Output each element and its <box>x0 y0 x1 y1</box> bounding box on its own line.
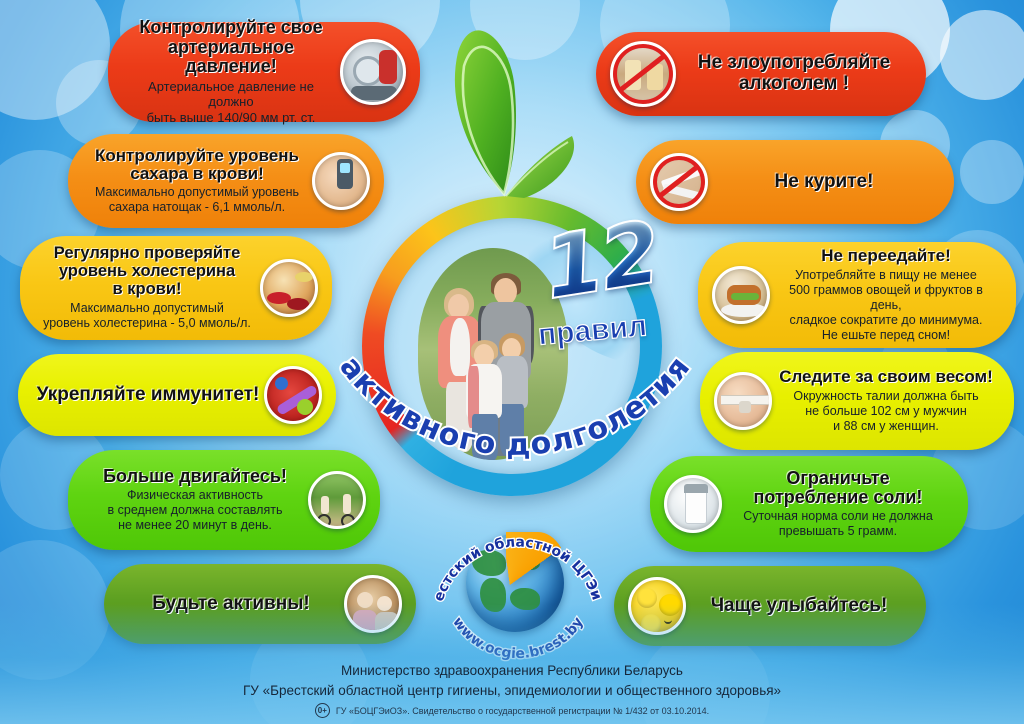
svg-text:www.ocgie.brest.by: www.ocgie.brest.by <box>449 614 586 662</box>
card-title: Не переедайте! <box>774 247 998 265</box>
age-rating-badge: 0+ <box>315 703 330 718</box>
card-title: Контролируйте своеартериальное давление! <box>126 18 336 76</box>
footer: Министерство здравоохранения Республики … <box>0 661 1024 719</box>
card-title: Контролируйте уровеньсахара в крови! <box>86 147 308 184</box>
cholesterol-food-icon <box>260 259 318 317</box>
blood-cells-icon <box>264 366 322 424</box>
card-body: Артериальное давление не должнобыть выше… <box>126 79 336 126</box>
svg-text:активного долголетия: активного долголетия <box>332 350 697 463</box>
card-body: Суточная норма соли не должнапревышать 5… <box>726 509 950 539</box>
arc-tagline-text: активного долголетия <box>332 350 697 463</box>
poster-canvas: 12 правил активного долголетия Контролир… <box>0 0 1024 724</box>
leaf-sprout-icon <box>432 8 582 198</box>
footer-center: ГУ «Брестский областной центр гигиены, э… <box>0 681 1024 701</box>
card-immunity[interactable]: Укрепляйте иммунитет! <box>18 354 336 436</box>
card-be-active[interactable]: Будьте активны! <box>104 564 416 644</box>
card-title: Не курите! <box>712 172 936 193</box>
svg-text:Брестский областной ЦГЭиОЗ: Брестский областной ЦГЭиОЗ <box>422 500 605 603</box>
organisation-logo[interactable]: Брестский областной ЦГЭиОЗ www.ocgie.bre… <box>428 512 608 658</box>
card-blood-pressure[interactable]: Контролируйте своеартериальное давление!… <box>108 22 420 122</box>
card-title: Будьте активны! <box>122 594 340 615</box>
card-title: Регулярно проверяйтеуровень холестеринав… <box>38 245 256 298</box>
card-title: Укрепляйте иммунитет! <box>36 385 260 406</box>
blood-pressure-monitor-icon <box>340 39 406 105</box>
salt-shaker-icon <box>664 475 722 533</box>
card-title: Чаще улыбайтесь! <box>690 596 908 617</box>
logo-arc-bottom: www.ocgie.brest.by <box>449 614 586 662</box>
waist-measuring-tape-icon <box>714 372 772 430</box>
card-body: Физическая активностьв среднем должна со… <box>86 488 304 533</box>
card-smile[interactable]: Чаще улыбайтесь! <box>614 566 926 646</box>
card-body: Максимально допустимый уровеньсахара нат… <box>86 185 308 215</box>
logo-arc-top: Брестский областной ЦГЭиОЗ <box>422 500 605 603</box>
glucometer-icon <box>312 152 370 210</box>
card-alcohol[interactable]: Не злоупотребляйтеалкоголем ! <box>596 32 926 116</box>
cyclists-icon <box>308 471 366 529</box>
card-cholesterol[interactable]: Регулярно проверяйтеуровень холестеринав… <box>20 236 332 340</box>
no-smoking-icon <box>650 153 708 211</box>
card-overeating[interactable]: Не переедайте! Употребляйте в пищу не ме… <box>698 242 1016 348</box>
card-body: Окружность талии должна бытьне больше 10… <box>776 389 996 434</box>
card-salt[interactable]: Ограничьтепотребление соли! Суточная нор… <box>650 456 968 552</box>
no-alcohol-icon <box>610 41 676 107</box>
card-blood-sugar[interactable]: Контролируйте уровеньсахара в крови! Мак… <box>68 134 384 228</box>
card-title: Не злоупотребляйтеалкоголем ! <box>680 53 908 94</box>
elderly-couple-icon <box>344 575 402 633</box>
card-movement[interactable]: Больше двигайтесь! Физическая активность… <box>68 450 380 550</box>
smileys-icon <box>628 577 686 635</box>
vegetables-plate-icon <box>712 266 770 324</box>
footer-registration-text: ГУ «БОЦГЭиОЗ». Свидетельство о государст… <box>336 706 709 716</box>
footer-ministry: Министерство здравоохранения Республики … <box>0 661 1024 681</box>
card-weight[interactable]: Следите за своим весом! Окружность талии… <box>700 352 1014 450</box>
card-title: Ограничьтепотребление соли! <box>726 469 950 508</box>
card-title: Следите за своим весом! <box>776 368 996 386</box>
card-title: Больше двигайтесь! <box>86 467 304 486</box>
card-smoking[interactable]: Не курите! <box>636 140 954 224</box>
card-body: Употребляйте в пищу не менее500 граммов … <box>774 268 998 343</box>
footer-registration: 0+ ГУ «БОЦГЭиОЗ». Свидетельство о госуда… <box>0 703 1024 718</box>
card-body: Максимально допустимыйуровень холестерин… <box>38 301 256 331</box>
